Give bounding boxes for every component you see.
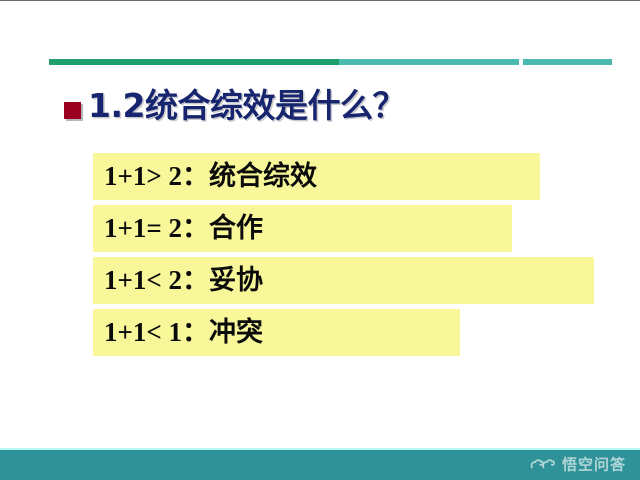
content-bar-list: 1+1> 2：统合综效 1+1= 2：合作 1+1< 2：妥协 1+1< 1：冲… xyxy=(93,153,594,361)
content-bar-text: 1+1< 2：妥协 xyxy=(104,267,263,294)
watermark-text: 悟空问答 xyxy=(562,458,626,473)
content-bar-text: 1+1< 1：冲突 xyxy=(104,319,263,346)
cloud-logo-icon xyxy=(530,459,556,472)
watermark: 悟空问答 xyxy=(530,458,626,473)
content-bar: 1+1= 2：合作 xyxy=(93,205,512,252)
content-bar-text: 1+1> 2：统合综效 xyxy=(104,163,317,190)
content-bar: 1+1> 2：统合综效 xyxy=(93,153,540,200)
footer-band: 悟空问答 xyxy=(0,448,640,480)
slide-canvas: 1.2统合综效是什么？ 1+1> 2：统合综效 1+1= 2：合作 1+1< 2… xyxy=(0,0,640,480)
square-bullet-icon xyxy=(64,102,81,119)
content-bar: 1+1< 1：冲突 xyxy=(93,309,460,356)
header-rule-dark-segment xyxy=(49,59,339,65)
content-bar: 1+1< 2：妥协 xyxy=(93,257,594,304)
header-rule-light-segment-a xyxy=(339,59,519,65)
content-bar-text: 1+1= 2：合作 xyxy=(104,215,263,242)
header-rule-light-segment-b xyxy=(523,59,612,65)
slide-title: 1.2统合综效是什么？ xyxy=(64,83,405,127)
slide-title-text: 1.2统合综效是什么？ xyxy=(88,89,405,122)
